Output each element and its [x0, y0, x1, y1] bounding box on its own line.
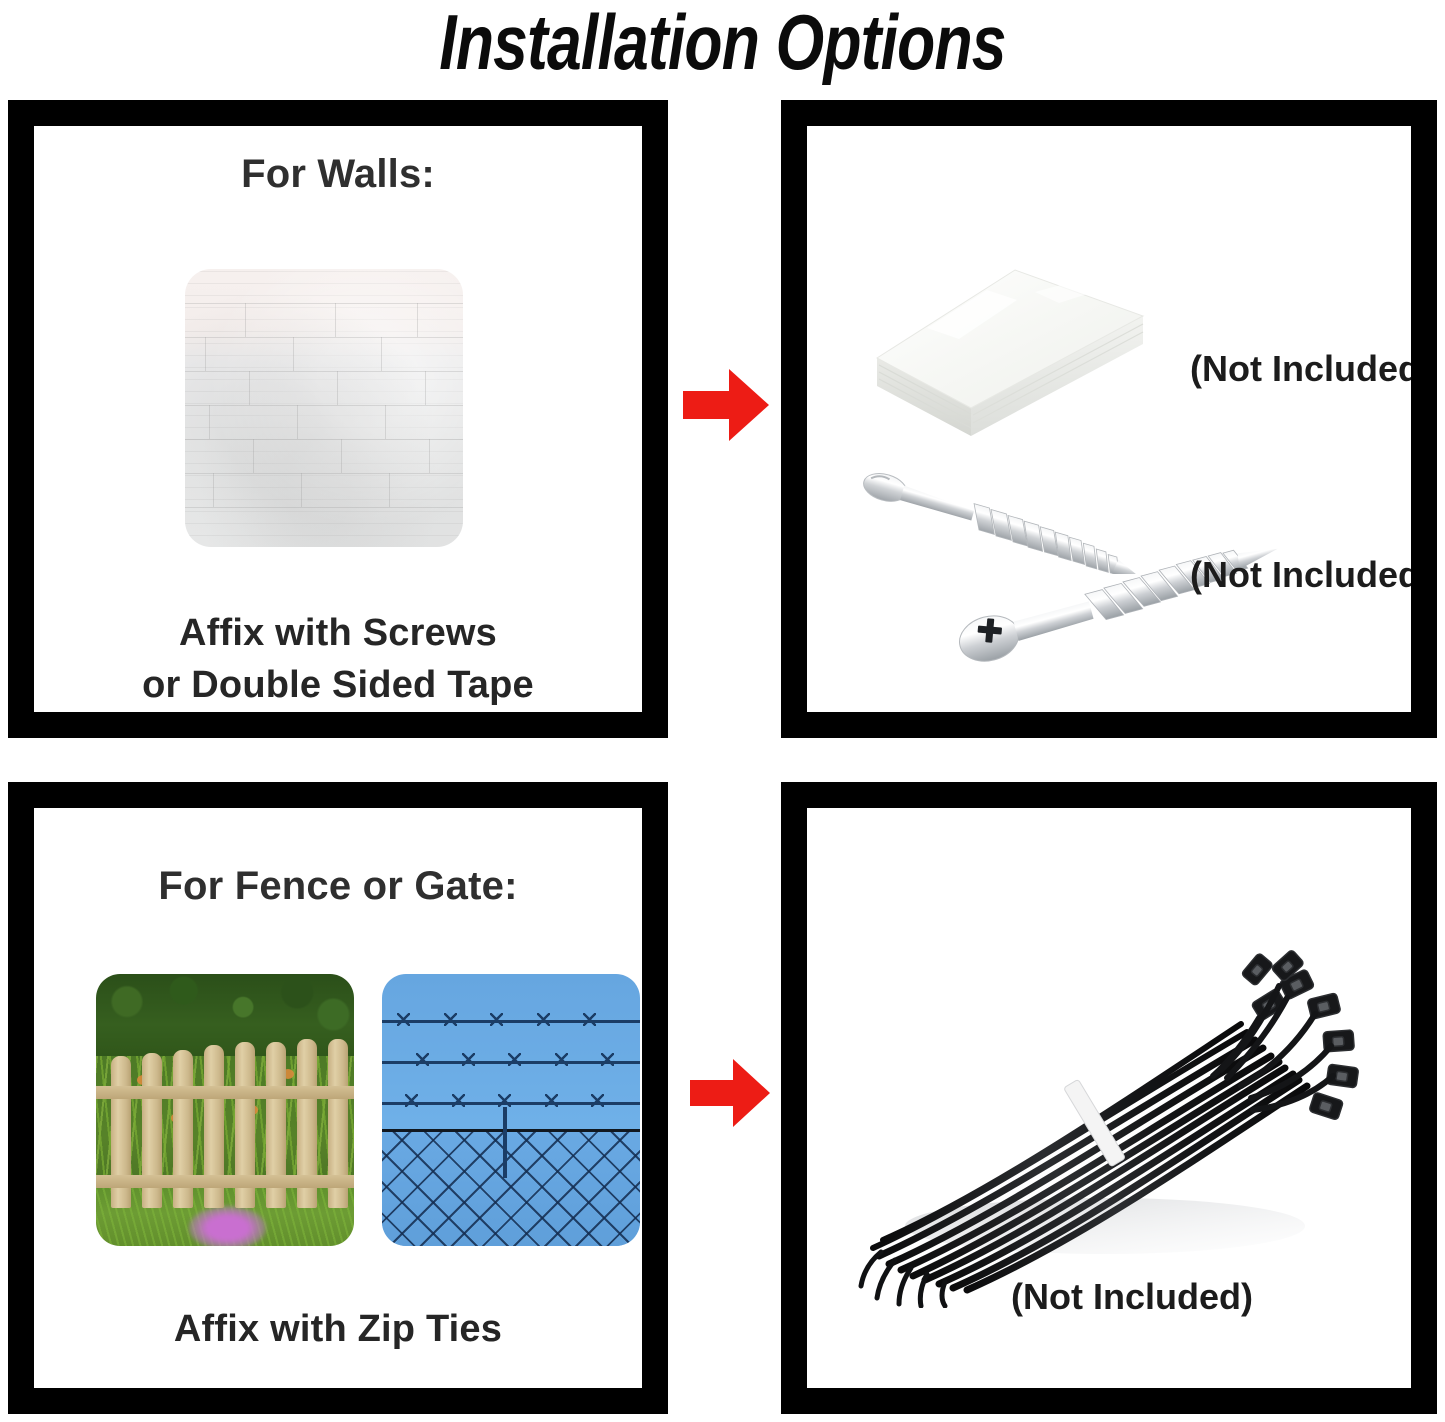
- panel-zip-ties: (Not Included): [781, 782, 1437, 1414]
- double-sided-tape-stack-icon: [867, 236, 1167, 436]
- screws-not-included-label: (Not Included): [1190, 554, 1411, 596]
- panel-hardware: (Not Included): [781, 100, 1437, 738]
- walls-caption-line-2: or Double Sided Tape: [34, 664, 642, 707]
- page-title: Installation Options: [145, 0, 1301, 88]
- fence-caption: Affix with Zip Ties: [34, 1308, 642, 1351]
- for-walls-heading: For Walls:: [34, 152, 642, 197]
- for-fence-heading: For Fence or Gate:: [34, 864, 642, 909]
- walls-caption-line-1: Affix with Screws: [34, 612, 642, 655]
- zipties-not-included-label: (Not Included): [1011, 1276, 1253, 1318]
- chain-link-barbed-wire-fence-photo: [382, 974, 640, 1246]
- panel-for-walls-inner: For Walls:: [34, 126, 642, 712]
- panel-for-fence-inner: For Fence or Gate:: [34, 808, 642, 1388]
- panel-zip-ties-inner: (Not Included): [807, 808, 1411, 1388]
- tape-not-included-label: (Not Included): [1190, 348, 1411, 390]
- red-right-arrow-bottom-icon: [690, 1059, 770, 1127]
- panel-for-fence-or-gate: For Fence or Gate:: [8, 782, 668, 1414]
- panel-for-walls: For Walls:: [8, 100, 668, 738]
- white-brick-wall-texture-icon: [185, 269, 463, 547]
- black-zip-tie-bundle-icon: [855, 908, 1375, 1308]
- red-right-arrow-top-icon: [683, 369, 769, 441]
- wooden-picket-fence-photo: [96, 974, 354, 1246]
- panel-hardware-inner: (Not Included): [807, 126, 1411, 712]
